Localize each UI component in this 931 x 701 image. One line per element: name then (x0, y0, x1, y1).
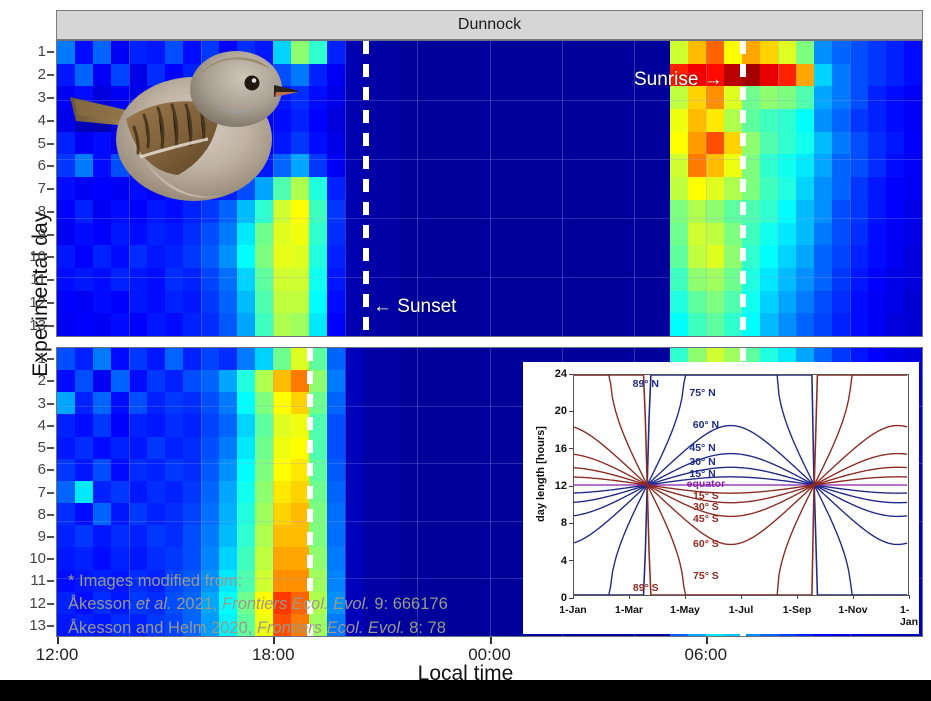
sunrise-line-a (740, 41, 746, 336)
inset-curve-label: 89° N (633, 378, 659, 390)
inset-y-tick: 16 (541, 443, 567, 455)
credit-line-3: Åkesson and Helm 2020, Frontiers Ecol. E… (68, 617, 448, 640)
y-tick-label: 4 (12, 418, 46, 433)
dunnock-bird-photo (68, 35, 298, 225)
y-tick-label: 12 (12, 295, 46, 310)
daylength-inset-chart: day length [hours] 04812162024 89° N75° … (523, 362, 919, 634)
inset-curve-label: 75° S (693, 570, 719, 582)
image-credit: * Images modified from: Åkesson et al. 2… (68, 570, 448, 640)
sunset-annotation: ← Sunset (373, 296, 456, 318)
inset-x-tick: 1-Mar (615, 604, 643, 616)
inset-curve-label: 45° N (689, 442, 715, 454)
y-tick-label: 3 (12, 90, 46, 105)
y-tick-label: 5 (12, 136, 46, 151)
inset-curve-label: equator (687, 478, 726, 490)
inset-y-axis-title: day length [hours] (535, 394, 547, 554)
inset-y-tick: 4 (541, 555, 567, 567)
inset-curve-label: 89° S (633, 582, 659, 594)
inset-curve-label: 60° N (693, 419, 719, 431)
inset-plot-area: 89° N75° N60° N45° N30° N15° Nequator15°… (573, 374, 909, 596)
y-tick-label: 10 (12, 249, 46, 264)
y-tick-label: 11 (12, 573, 46, 588)
y-tick-label: 13 (12, 318, 46, 333)
panel-title-text: Dunnock (458, 16, 521, 34)
y-tick-label: 7 (12, 181, 46, 196)
inset-y-tick: 24 (541, 368, 567, 380)
credit-line-1: * Images modified from: (68, 570, 448, 593)
y-tick-label: 7 (12, 485, 46, 500)
inset-curve-label: 30° S (693, 501, 719, 513)
y-tick-label: 12 (12, 596, 46, 611)
y-tick-label: 9 (12, 227, 46, 242)
inset-y-tick: 20 (541, 405, 567, 417)
sunset-line-a (363, 41, 369, 336)
inset-curve-label: 60° S (693, 538, 719, 550)
y-tick-label: 6 (12, 462, 46, 477)
y-tick-label: 4 (12, 113, 46, 128)
inset-y-tick: 8 (541, 517, 567, 529)
inset-y-tick: 12 (541, 480, 567, 492)
y-tick-label: 5 (12, 440, 46, 455)
y-tick-label: 3 (12, 396, 46, 411)
actogram-figure: Experimental day Dunnock ← Sunset Sunris… (0, 0, 931, 701)
inset-curve-label: 30° N (689, 456, 715, 468)
sunrise-annotation: Sunrise → (634, 69, 723, 91)
y-tick-label: 11 (12, 272, 46, 287)
inset-x-tick: 1-Jan (900, 604, 918, 628)
inset-x-tick: 1-Sep (783, 604, 812, 616)
y-tick-label: 6 (12, 158, 46, 173)
inset-x-tick: 1-Jul (729, 604, 754, 616)
y-tick-label: 10 (12, 551, 46, 566)
inset-x-tick: 1-Nov (838, 604, 867, 616)
inset-x-tick: 1-Jan (559, 604, 586, 616)
inset-curves (574, 375, 908, 595)
inset-x-tick: 1-May (670, 604, 700, 616)
credit-line-2: Åkesson et al. 2021, Frontiers Ecol. Evo… (68, 593, 448, 616)
y-tick-label: 8 (12, 204, 46, 219)
y-tick-label: 1 (12, 44, 46, 59)
y-tick-label: 8 (12, 507, 46, 522)
y-tick-label: 2 (12, 67, 46, 82)
y-tick-label: 1 (12, 351, 46, 366)
inset-curve-label: 75° N (689, 387, 715, 399)
inset-y-tick: 0 (541, 592, 567, 604)
y-tick-label: 9 (12, 529, 46, 544)
y-tick-label: 13 (12, 618, 46, 633)
bottom-black-bar (0, 680, 931, 701)
y-tick-label: 2 (12, 373, 46, 388)
inset-curve-label: 45° S (693, 513, 719, 525)
